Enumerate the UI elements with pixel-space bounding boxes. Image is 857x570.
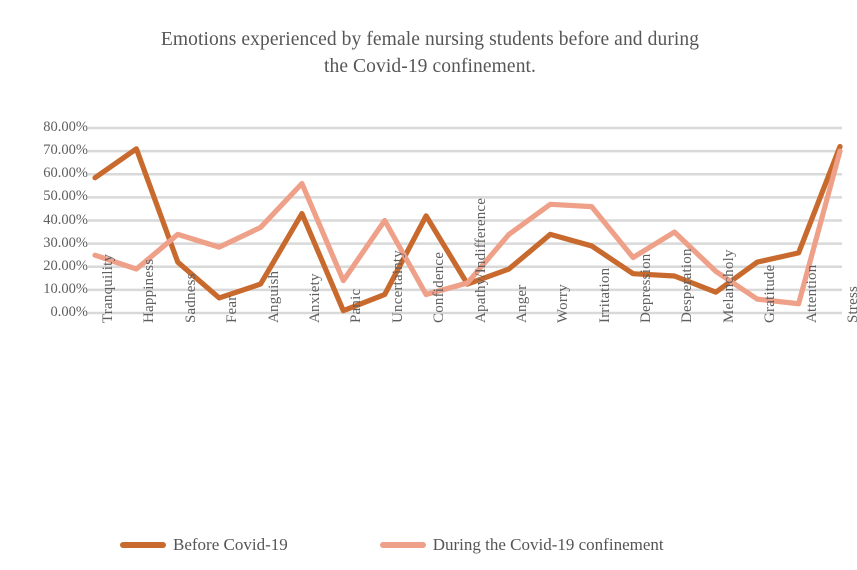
legend-label-during: During the Covid-19 confinement <box>433 535 664 555</box>
legend-item-during[interactable]: During the Covid-19 confinement <box>380 535 664 555</box>
plot-canvas <box>0 0 857 570</box>
legend-swatch-icon-during <box>380 542 426 548</box>
chart-container: Emotions experienced by female nursing s… <box>0 0 857 570</box>
legend-swatch-icon-before <box>120 542 166 548</box>
chart-legend: Before Covid-19 During the Covid-19 conf… <box>120 531 740 559</box>
legend-item-before[interactable]: Before Covid-19 <box>120 535 288 555</box>
legend-label-before: Before Covid-19 <box>173 535 288 555</box>
series-line-before <box>95 147 840 311</box>
plot-area: 80.00%70.00%60.00%50.00%40.00%30.00%20.0… <box>0 0 857 570</box>
